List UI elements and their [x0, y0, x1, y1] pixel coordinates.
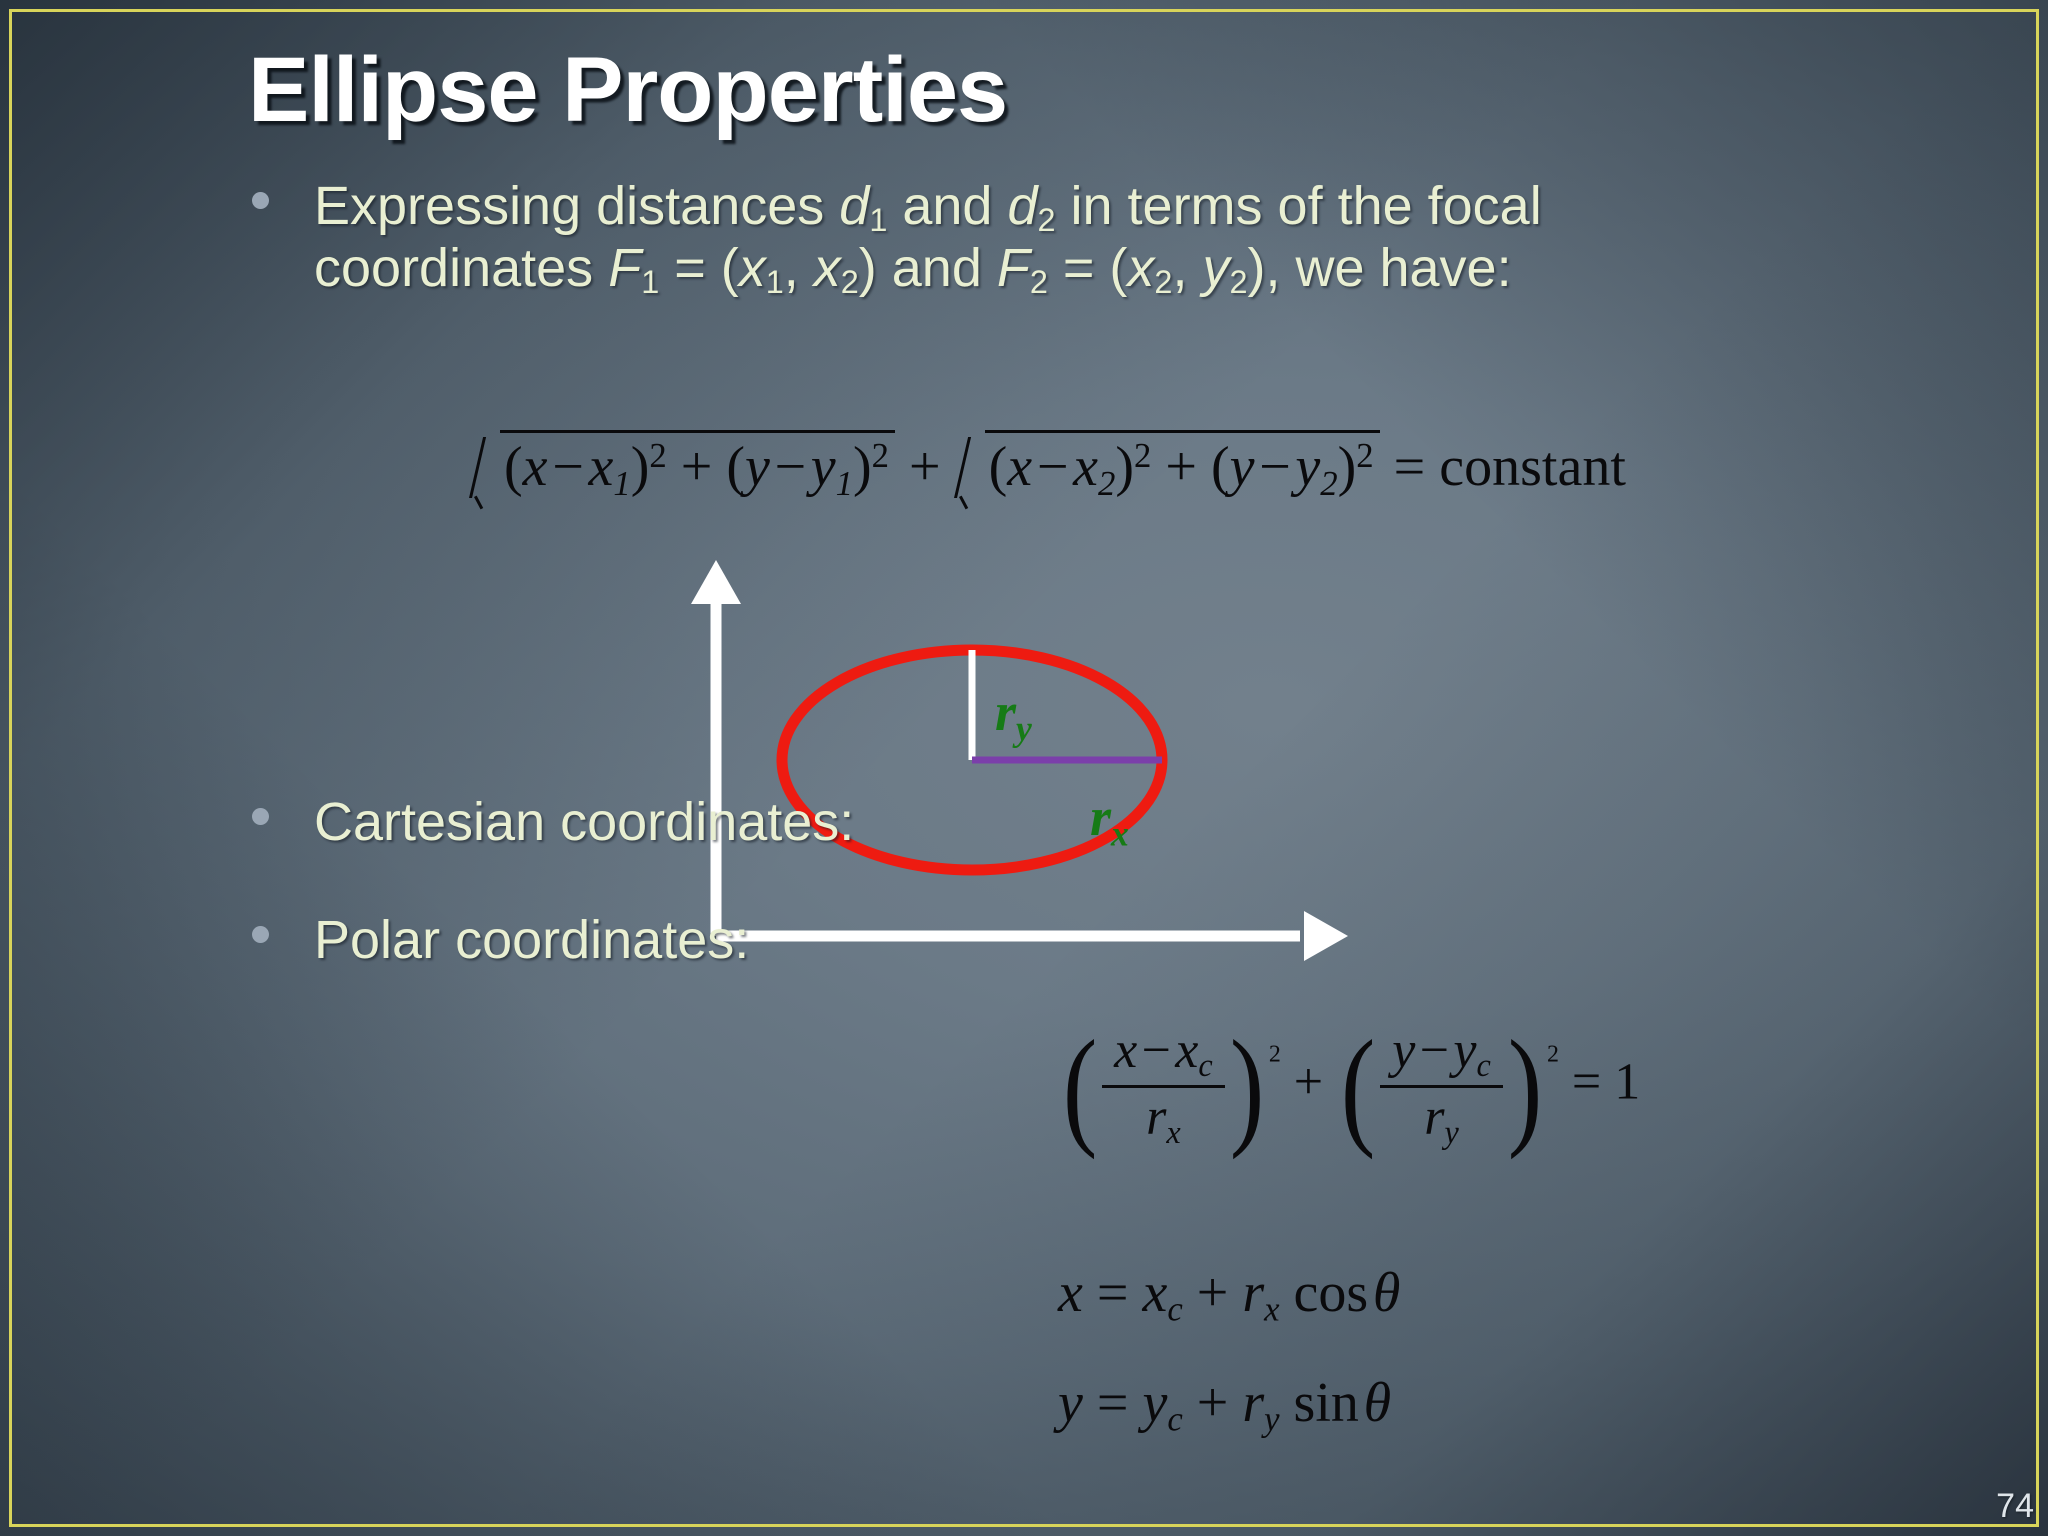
- bullet-polar-coordinates: Polar coordinates:: [252, 910, 1052, 970]
- eq2-minus2: −: [1259, 436, 1291, 498]
- eq2-sub1: 2: [1098, 464, 1115, 503]
- var-d-1: d: [839, 176, 869, 236]
- y-axis-arrow: [691, 560, 741, 936]
- py-equals: =: [1097, 1372, 1129, 1434]
- bullet-focal-coordinates: Expressing distances d1 and d2 in terms …: [252, 176, 1772, 301]
- focal-line2-f: ), we have:: [1247, 238, 1511, 298]
- var-F-2: F: [997, 238, 1030, 298]
- rparen-y: ): [1508, 1031, 1542, 1142]
- px-xc: x: [1142, 1262, 1167, 1324]
- cx-sub-c: c: [1198, 1047, 1212, 1083]
- cartesian-equals: =: [1572, 1054, 1601, 1111]
- py-theta: θ: [1364, 1372, 1392, 1434]
- focal-line1-a: Expressing distances: [314, 176, 839, 236]
- cx-minus: −: [1142, 1022, 1171, 1079]
- px-theta: θ: [1373, 1262, 1401, 1324]
- equation-focal-sum: (x − x1)2 + (y − y1)2 + (x − x2)2 + (y −…: [470, 430, 1626, 501]
- cy-r: r: [1424, 1089, 1444, 1146]
- eq1-x2: x: [588, 436, 613, 498]
- px-x: x: [1058, 1262, 1083, 1324]
- px-cos: cos: [1294, 1262, 1369, 1324]
- py-sub-y: y: [1264, 1400, 1279, 1439]
- eq2-x: x: [1007, 436, 1032, 498]
- eq1-minus: −: [552, 436, 584, 498]
- eq2-x2: x: [1073, 436, 1098, 498]
- eq2-sub2: 2: [1320, 464, 1337, 503]
- var-y-1: y: [1202, 238, 1229, 298]
- fraction-x-numerator: x − xc: [1102, 1025, 1225, 1088]
- bullet-marker-icon-polar: [252, 926, 269, 943]
- cx-sub-x: x: [1166, 1114, 1180, 1150]
- eq1-y2: y: [811, 436, 836, 498]
- rparen-x: ): [1230, 1031, 1264, 1142]
- eq1-sup1: 2: [649, 436, 666, 475]
- eq2-sup2: 2: [1356, 436, 1373, 475]
- label-ry: ry: [995, 685, 1032, 747]
- focal-line2-c: ,: [784, 238, 814, 298]
- eq1-sub2: 1: [836, 464, 853, 503]
- var-x-3: x: [1127, 238, 1154, 298]
- radicand-2: (x − x2)2 + (y − y2)2: [985, 430, 1380, 501]
- py-sin: sin: [1294, 1372, 1359, 1434]
- page-number: 74: [1996, 1487, 2034, 1526]
- sub-1-b: 1: [641, 265, 659, 301]
- eq1-plus-inner: +: [681, 436, 713, 498]
- bullet-cartesian-coordinates: Cartesian coordinates:: [252, 792, 1052, 852]
- ellipse-diagram: ry rx: [700, 560, 1360, 960]
- px-equals: =: [1097, 1262, 1129, 1324]
- var-F-1: F: [608, 238, 641, 298]
- sub-2-c: 2: [1030, 265, 1048, 301]
- sub-1-a: 1: [869, 202, 887, 238]
- focal-line2-a: coordinates: [314, 238, 608, 298]
- cy-y: y: [1392, 1022, 1415, 1079]
- var-x-2: x: [814, 238, 841, 298]
- eq2-plus-inner: +: [1165, 436, 1197, 498]
- cy-sub-y: y: [1444, 1114, 1458, 1150]
- eq2-y2: y: [1295, 436, 1320, 498]
- py-plus: +: [1197, 1372, 1229, 1434]
- label-ry-letter: r: [995, 682, 1016, 742]
- py-y: y: [1058, 1372, 1083, 1434]
- cartesian-group-y: (y − ycry)2: [1336, 1025, 1559, 1149]
- eq2-minus: −: [1037, 436, 1069, 498]
- eq-outer-plus: +: [909, 436, 941, 498]
- cartesian-rhs: 1: [1614, 1054, 1640, 1111]
- fraction-y: y − ycry: [1380, 1025, 1503, 1149]
- focal-line2-e: = (: [1048, 238, 1128, 298]
- eq1-x: x: [523, 436, 548, 498]
- cartesian-plus: +: [1294, 1054, 1323, 1111]
- eq-rhs-constant: constant: [1439, 436, 1626, 498]
- eq1-sub1: 1: [613, 464, 630, 503]
- cartesian-group-x: (x − xcrx)2: [1058, 1025, 1281, 1149]
- sqrt-term-1: (x − x1)2 + (y − y1)2: [470, 430, 895, 501]
- label-rx-letter: r: [1090, 787, 1111, 847]
- bullet-cartesian-label: Cartesian coordinates:: [314, 792, 1052, 852]
- equation-polar-y: y = yc + ry sin θ: [1058, 1375, 1391, 1437]
- lparen-x: (: [1063, 1031, 1097, 1142]
- lparen-y: (: [1341, 1031, 1375, 1142]
- px-sub-x: x: [1264, 1290, 1279, 1329]
- px-r: r: [1242, 1262, 1264, 1324]
- equation-polar-x: x = xc + rx cos θ: [1058, 1265, 1400, 1327]
- fraction-x-denominator: rx: [1102, 1088, 1225, 1148]
- slide: Ellipse Properties Expressing distances …: [0, 0, 2048, 1536]
- focal-line2-d: ) and: [859, 238, 997, 298]
- cx-x: x: [1114, 1022, 1137, 1079]
- fraction-x: x − xcrx: [1102, 1025, 1225, 1149]
- label-rx-sub: x: [1111, 814, 1129, 854]
- equation-cartesian: (x − xcrx)2 + (y − ycry)2 = 1: [1058, 1025, 1640, 1149]
- eq1-sup2: 2: [872, 436, 889, 475]
- bullet-polar-label: Polar coordinates:: [314, 910, 1052, 970]
- focal-line1-b: and: [887, 176, 1007, 236]
- focal-line2-c2: ,: [1172, 238, 1202, 298]
- eq-equals: =: [1394, 436, 1426, 498]
- bullet-focal-text: Expressing distances d1 and d2 in terms …: [314, 176, 1772, 301]
- fraction-y-numerator: y − yc: [1380, 1025, 1503, 1088]
- sub-2-e: 2: [1229, 265, 1247, 301]
- sub-2-a: 2: [1037, 202, 1055, 238]
- sub-2-d: 2: [1154, 265, 1172, 301]
- bullet-marker-icon: [252, 192, 269, 209]
- page-title: Ellipse Properties: [248, 38, 1007, 143]
- px-sub-c: c: [1167, 1290, 1182, 1329]
- bullet-marker-icon-cartesian: [252, 808, 269, 825]
- var-d-2: d: [1007, 176, 1037, 236]
- cy-minus: −: [1420, 1022, 1449, 1079]
- cartesian-exp-x: 2: [1269, 1042, 1281, 1068]
- focal-line2-b: = (: [659, 238, 739, 298]
- cx-r: r: [1146, 1089, 1166, 1146]
- label-rx: rx: [1090, 790, 1129, 852]
- cy-yc: y: [1453, 1022, 1476, 1079]
- eq1-y: y: [745, 436, 770, 498]
- sqrt-term-2: (x − x2)2 + (y − y2)2: [955, 430, 1380, 501]
- py-sub-c: c: [1167, 1400, 1182, 1439]
- eq1-minus2: −: [775, 436, 807, 498]
- cx-xc: x: [1175, 1022, 1198, 1079]
- sub-1-c: 1: [766, 265, 784, 301]
- py-r: r: [1242, 1372, 1264, 1434]
- var-x-1: x: [739, 238, 766, 298]
- focal-line1-c: in terms of the focal: [1056, 176, 1542, 236]
- label-ry-sub: y: [1016, 709, 1032, 749]
- px-plus: +: [1197, 1262, 1229, 1324]
- eq2-y: y: [1230, 436, 1255, 498]
- sub-2-b: 2: [841, 265, 859, 301]
- py-yc: y: [1142, 1372, 1167, 1434]
- eq2-sup1: 2: [1134, 436, 1151, 475]
- cy-sub-c: c: [1476, 1047, 1490, 1083]
- radicand-1: (x − x1)2 + (y − y1)2: [500, 430, 895, 501]
- fraction-y-denominator: ry: [1380, 1088, 1503, 1148]
- cartesian-exp-y: 2: [1547, 1042, 1559, 1068]
